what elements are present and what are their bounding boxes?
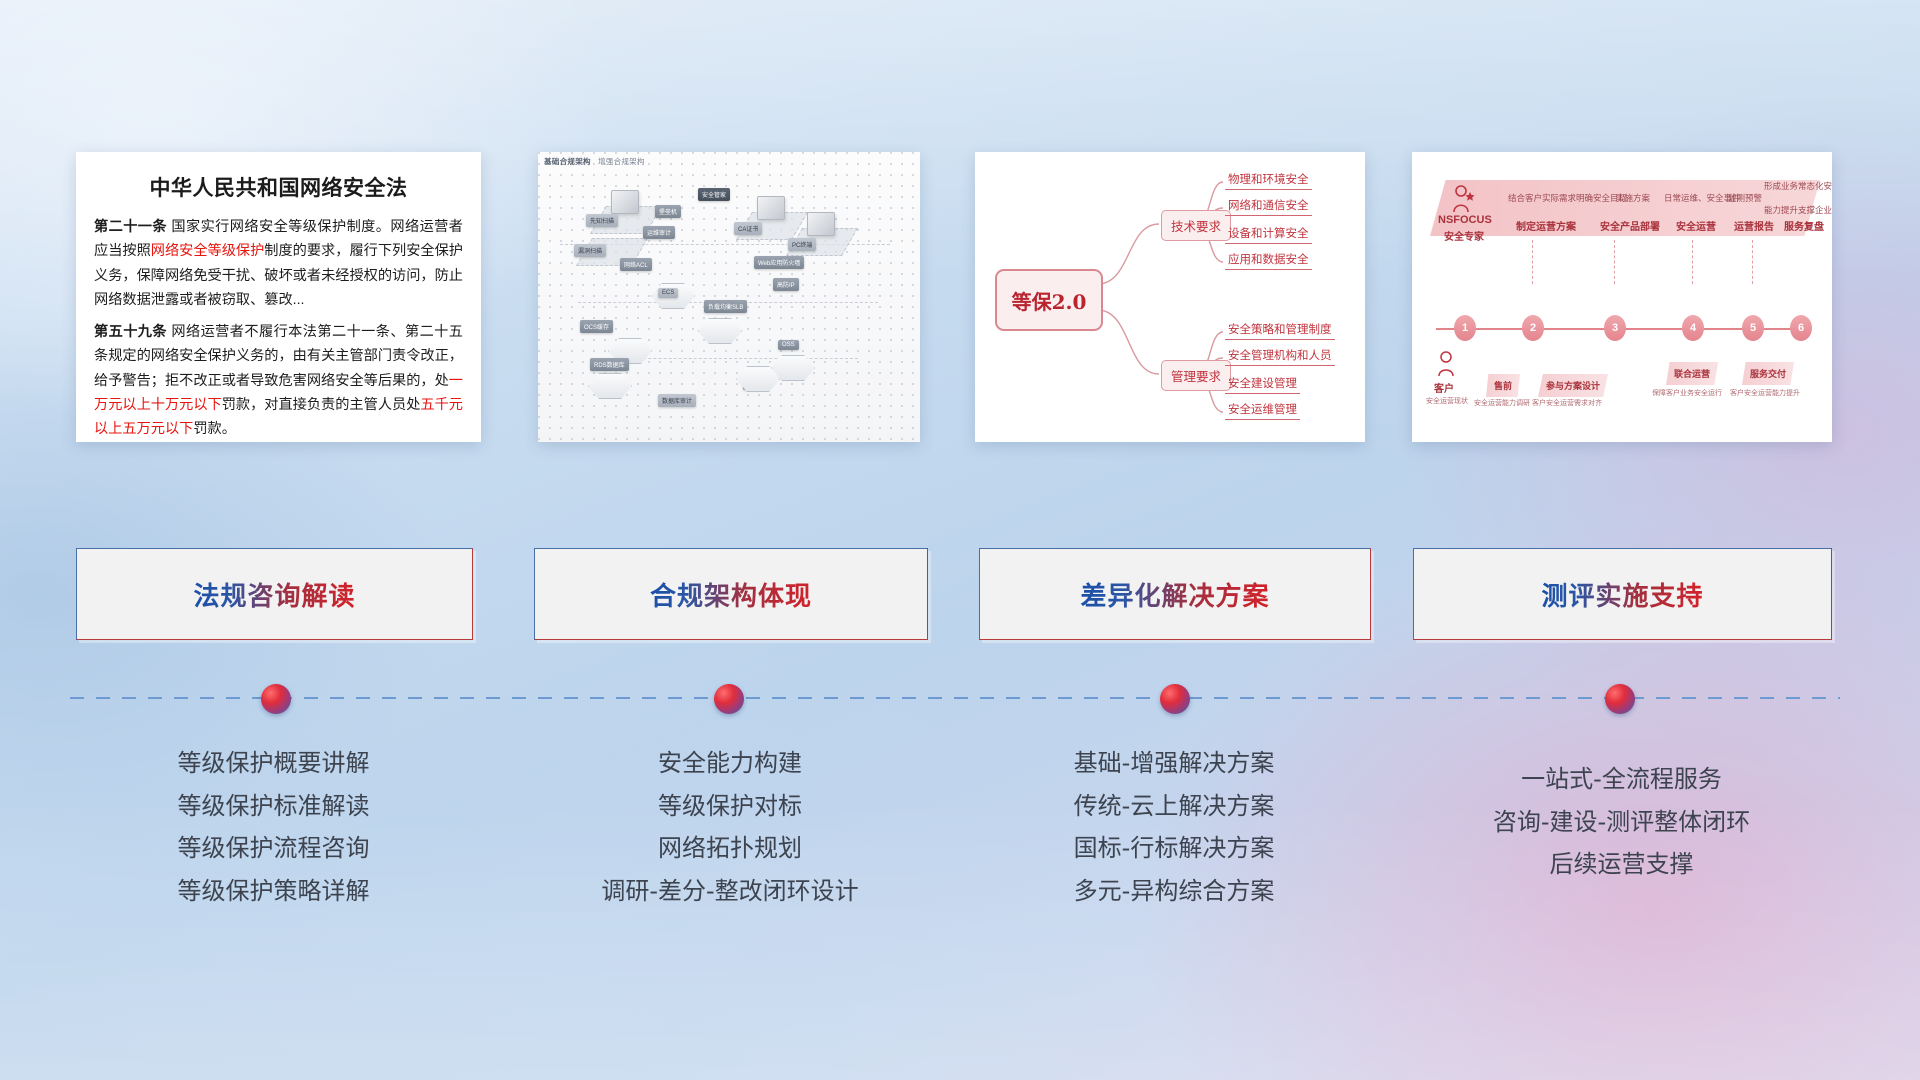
roadmap-caption: 监测预警 (1728, 192, 1762, 204)
roadmap-step-dot: 4 (1682, 315, 1704, 341)
list-item: 多元-异构综合方案 (979, 870, 1369, 913)
architecture-node-label: 高防IP (773, 278, 799, 291)
roadmap-step-dot: 2 (1522, 315, 1544, 341)
card-service-roadmap: NSFOCUS 安全专家 结合客户实际需求明确安全目标 实施方案 日常运维、安全… (1412, 152, 1832, 442)
roadmap-connector (1614, 240, 1615, 284)
architecture-node-label: 先知扫描 (586, 214, 618, 227)
roadmap-caption: 形成业务常态化安全运营 (1764, 180, 1832, 192)
roadmap-connector (1752, 240, 1753, 284)
roadmap-customer-title: 客户 (1434, 380, 1454, 395)
timeline-dot-4[interactable] (1605, 684, 1635, 714)
timeline-dashed-line (70, 697, 1840, 699)
list-item: 等级保护概要讲解 (76, 742, 471, 785)
architecture-node-label: Web应用防火墙 (754, 256, 804, 269)
architecture-header-right: 增强合规架构 (598, 157, 645, 166)
list-item: 等级保护标准解读 (76, 785, 471, 828)
architecture-node-label: RDS数据库 (590, 358, 629, 371)
architecture-node-label: 堡垒机 (655, 205, 681, 218)
list-item: 等级保护对标 (534, 785, 926, 828)
architecture-header: 基础合规架构 增强合规架构 (544, 156, 645, 167)
list-item: 一站式-全流程服务 (1413, 758, 1830, 801)
architecture-hex-node (588, 373, 632, 399)
architecture-hex-node (698, 318, 742, 344)
timeline-dot-3[interactable] (1160, 684, 1190, 714)
law-article-59: 第五十九条 网络运营者不履行本法第二十一条、第二十五条规定的网络安全保护义务的，… (94, 320, 463, 442)
roadmap-tag: 售前 (1486, 374, 1520, 397)
architecture-node-label: PC终端 (788, 238, 816, 251)
roadmap-step-label: 服务复盘 (1784, 218, 1824, 233)
roadmap-step-label: 运营报告 (1734, 218, 1774, 233)
roadmap-canvas: NSFOCUS 安全专家 结合客户实际需求明确安全目标 实施方案 日常运维、安全… (1412, 152, 1832, 442)
mindmap-branch-management: 管理要求 (1161, 360, 1231, 391)
list-item: 调研-差分-整改闭环设计 (534, 870, 926, 913)
list-item: 网络拓扑规划 (534, 827, 926, 870)
mindmap-branch-technical: 技术要求 (1161, 210, 1231, 241)
mindmap-leaf: 网络和通信安全 (1225, 197, 1312, 216)
card-architecture-diagram: 基础合规架构 增强合规架构 先知扫描 漏洞扫描 安全管家 堡垒机 运维审计 CA… (538, 152, 920, 442)
mindmap-leaf: 安全运维管理 (1225, 401, 1300, 420)
roadmap-brand-sub: 安全专家 (1444, 228, 1484, 243)
mindmap-leaf: 安全管理机构和人员 (1225, 347, 1335, 366)
law-article-59-label: 第五十九条 (94, 324, 167, 340)
architecture-node-icon (807, 212, 835, 236)
architecture-header-left: 基础合规架构 (544, 157, 591, 166)
law-article-21: 第二十一条 国家实行网络安全等级保护制度。网络运营者应当按照网络安全等级保护制度… (94, 215, 463, 313)
column-list-4: 一站式-全流程服务 咨询-建设-测评整体闭环 后续运营支撑 (1413, 758, 1830, 886)
list-item: 国标-行标解决方案 (979, 827, 1369, 870)
mindmap-root-node: 等保2.0 (995, 269, 1103, 331)
mindmap-leaf: 物理和环境安全 (1225, 171, 1312, 190)
roadmap-tag: 联合运营 (1666, 362, 1718, 385)
architecture-node-label: 漏洞扫描 (574, 244, 606, 257)
roadmap-step-dot: 3 (1604, 315, 1626, 341)
roadmap-connector (1532, 240, 1533, 284)
timeline-dot-1[interactable] (261, 684, 291, 714)
list-item: 后续运营支撑 (1413, 843, 1830, 886)
column-title-4: 测评实施支持 (1541, 576, 1703, 613)
column-title-box-1[interactable]: 法规咨询解读 (76, 548, 473, 640)
roadmap-tag-sub: 安全运营能力调研 (1474, 398, 1530, 408)
roadmap-tag-sub: 客户安全运营能力提升 (1730, 388, 1800, 398)
card-mindmap: 等保2.0 技术要求 管理要求 物理和环境安全 网络和通信安全 设备和计算安全 … (975, 152, 1365, 442)
column-title-box-4[interactable]: 测评实施支持 (1413, 548, 1832, 640)
architecture-node-label: OSS (778, 340, 799, 350)
architecture-node-label: 数据库审计 (658, 394, 696, 407)
architecture-node-label: 运维审计 (643, 226, 675, 239)
roadmap-tag: 参与方案设计 (1538, 374, 1608, 397)
column-title-3: 差异化解决方案 (1080, 576, 1269, 613)
mindmap-canvas: 等保2.0 技术要求 管理要求 物理和环境安全 网络和通信安全 设备和计算安全 … (975, 152, 1365, 442)
roadmap-step-dot: 1 (1454, 315, 1476, 341)
law-article-59-text-3: 罚款。 (193, 421, 236, 437)
list-item: 等级保护策略详解 (76, 870, 471, 913)
timeline-dot-2[interactable] (714, 684, 744, 714)
roadmap-step-dot: 5 (1742, 315, 1764, 341)
roadmap-brand: NSFOCUS (1438, 214, 1492, 226)
column-title-box-3[interactable]: 差异化解决方案 (979, 548, 1371, 640)
roadmap-step-label: 制定运营方案 (1516, 218, 1576, 233)
list-item: 基础-增强解决方案 (979, 742, 1369, 785)
architecture-node-label: ECS (658, 288, 678, 298)
list-item: 安全能力构建 (534, 742, 926, 785)
list-item: 等级保护流程咨询 (76, 827, 471, 870)
architecture-node-label: 负载均衡SLB (704, 300, 747, 313)
architecture-node-icon (757, 196, 785, 220)
column-list-3: 基础-增强解决方案 传统-云上解决方案 国标-行标解决方案 多元-异构综合方案 (979, 742, 1369, 913)
law-document-body: 中华人民共和国网络安全法 第二十一条 国家实行网络安全等级保护制度。网络运营者应… (76, 152, 481, 442)
roadmap-caption: 实施方案 (1616, 192, 1650, 204)
roadmap-connector (1692, 240, 1693, 284)
roadmap-step-label: 安全运营 (1676, 218, 1716, 233)
architecture-node-label: CA证书 (734, 222, 762, 235)
column-list-2: 安全能力构建 等级保护对标 网络拓扑规划 调研-差分-整改闭环设计 (534, 742, 926, 913)
architecture-node-label: OCS缓存 (580, 320, 613, 333)
law-article-59-text-2: 罚款，对直接负责的主管人员处 (222, 397, 421, 413)
roadmap-customer-sub: 安全运营现状 (1426, 396, 1468, 406)
roadmap-tag: 服务交付 (1742, 362, 1794, 385)
roadmap-caption: 结合客户实际需求明确安全目标 (1508, 192, 1627, 204)
law-title: 中华人民共和国网络安全法 (94, 172, 463, 202)
content-wrapper: 中华人民共和国网络安全法 第二十一条 国家实行网络安全等级保护制度。网络运营者应… (0, 0, 1920, 1080)
roadmap-caption: 能力提升支撑企业安全建设目标 (1764, 204, 1832, 216)
column-title-box-2[interactable]: 合规架构体现 (534, 548, 928, 640)
roadmap-step-label: 安全产品部署 (1600, 218, 1660, 233)
column-title-1: 法规咨询解读 (193, 576, 355, 613)
architecture-canvas: 基础合规架构 增强合规架构 先知扫描 漏洞扫描 安全管家 堡垒机 运维审计 CA… (538, 152, 920, 442)
mindmap-leaf: 安全策略和管理制度 (1225, 321, 1335, 340)
architecture-node-label: 网络ACL (620, 258, 652, 271)
list-item: 传统-云上解决方案 (979, 785, 1369, 828)
column-title-2: 合规架构体现 (650, 576, 812, 613)
law-article-21-highlight: 网络安全等级保护 (151, 243, 265, 259)
architecture-node-label: 安全管家 (698, 188, 730, 201)
expert-person-icon (1450, 184, 1476, 214)
law-article-21-label: 第二十一条 (94, 219, 167, 235)
list-item: 咨询-建设-测评整体闭环 (1413, 801, 1830, 844)
card-law-document: 中华人民共和国网络安全法 第二十一条 国家实行网络安全等级保护制度。网络运营者应… (76, 152, 481, 442)
roadmap-step-dot: 6 (1790, 315, 1812, 341)
column-list-1: 等级保护概要讲解 等级保护标准解读 等级保护流程咨询 等级保护策略详解 (76, 742, 471, 913)
customer-person-icon (1436, 350, 1460, 378)
mindmap-leaf: 安全建设管理 (1225, 375, 1300, 394)
mindmap-leaf: 应用和数据安全 (1225, 251, 1312, 270)
roadmap-tag-sub: 客户安全运营需求对齐 (1532, 398, 1602, 408)
architecture-node-icon (611, 190, 639, 214)
mindmap-leaf: 设备和计算安全 (1225, 225, 1312, 244)
roadmap-tag-sub: 保障客户业务安全运行 (1652, 388, 1722, 398)
